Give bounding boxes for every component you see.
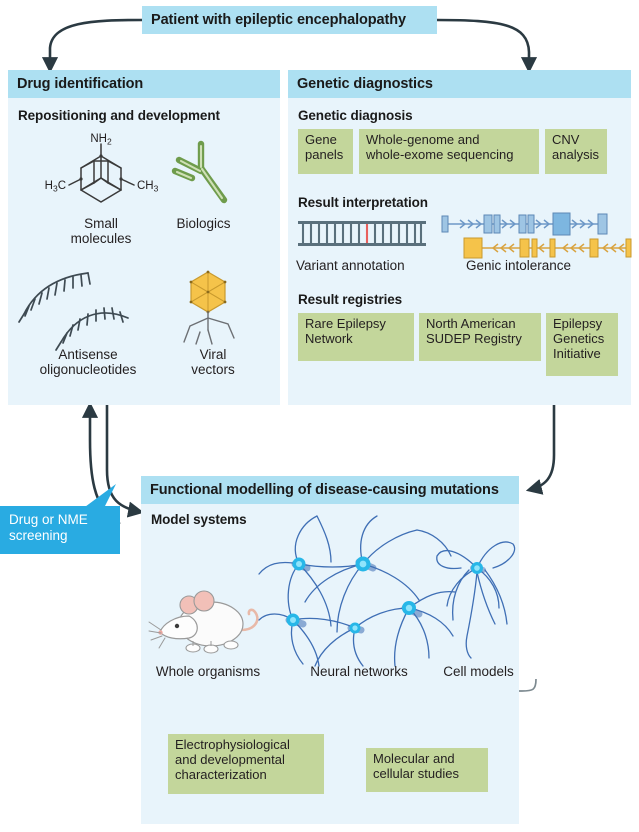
small-molecule-structure-icon: NH2 H3C CH3: [36, 132, 166, 224]
epilepsy-genetics-initiative-box[interactable]: Epilepsy Genetics Initiative: [546, 313, 618, 376]
whole-organisms-caption: Whole organisms: [143, 664, 273, 679]
drug-nme-screening-callout[interactable]: Drug or NME screening: [0, 506, 120, 554]
single-neuron-icon: [437, 528, 517, 658]
genic-intolerance-caption: Genic intolerance: [466, 258, 626, 273]
genic-intolerance-icon: [440, 212, 630, 260]
result-interpretation-section-title: Result interpretation: [298, 195, 428, 210]
rare-epilepsy-network-box[interactable]: Rare Epilepsy Network: [298, 313, 414, 361]
biologics-caption: Biologics: [156, 216, 251, 231]
result-registries-section-title: Result registries: [298, 292, 402, 307]
arrow-genetics-to-functional: [529, 400, 554, 490]
gene-panels-box[interactable]: Gene panels: [298, 129, 353, 174]
genetic-diagnosis-section-title: Genetic diagnosis: [298, 108, 413, 123]
wgs-wes-box[interactable]: Whole-genome and whole-exome sequencing: [359, 129, 539, 174]
viral-vector-icon: [172, 270, 248, 352]
svg-text:NH2: NH2: [90, 133, 112, 147]
patient-banner-label: Patient with epileptic encephalopathy: [142, 12, 406, 28]
viral-vectors-caption: Viral vectors: [168, 347, 258, 377]
functional-modelling-panel: Functional modelling of disease-causing …: [141, 476, 519, 824]
cell-models-caption: Cell models: [431, 664, 526, 679]
small-molecules-caption: Small molecules: [41, 216, 161, 246]
arrow-banner-to-drug: [50, 20, 142, 70]
svg-text:CH3: CH3: [137, 180, 159, 194]
electrophysiological-characterization-box[interactable]: Electrophysiological and developmental c…: [168, 734, 324, 794]
drug-identification-header-label: Drug identification: [8, 76, 143, 92]
antisense-caption: Antisense oligonucleotides: [18, 347, 158, 377]
drug-identification-header[interactable]: Drug identification: [8, 70, 280, 98]
molecular-cellular-studies-box[interactable]: Molecular and cellular studies: [366, 748, 488, 792]
arrow-banner-to-genetics: [437, 20, 529, 70]
genetic-diagnostics-panel: Genetic diagnostics Genetic diagnosis Ge…: [288, 70, 631, 405]
patient-banner[interactable]: Patient with epileptic encephalopathy: [142, 6, 437, 34]
drug-identification-panel: Drug identification Repositioning and de…: [8, 70, 280, 405]
genetic-diagnostics-header[interactable]: Genetic diagnostics: [288, 70, 631, 98]
functional-modelling-header[interactable]: Functional modelling of disease-causing …: [141, 476, 519, 504]
mouse-icon: [149, 588, 267, 662]
repositioning-section-title: Repositioning and development: [18, 108, 220, 123]
cnv-analysis-box[interactable]: CNV analysis: [545, 129, 607, 174]
variant-annotation-caption: Variant annotation: [296, 258, 441, 273]
model-systems-section-title: Model systems: [151, 512, 247, 527]
antisense-oligo-icon: [16, 270, 166, 352]
variant-annotation-icon: [298, 218, 426, 252]
svg-text:H3C: H3C: [45, 180, 66, 194]
functional-modelling-header-label: Functional modelling of disease-causing …: [141, 482, 499, 498]
genetic-diagnostics-header-label: Genetic diagnostics: [288, 76, 433, 92]
arrow-drug-to-functional: [107, 404, 141, 512]
neural-network-icon: [259, 516, 459, 666]
antibody-icon: [170, 138, 232, 212]
neural-networks-caption: Neural networks: [269, 664, 449, 679]
north-american-sudep-registry-box[interactable]: North American SUDEP Registry: [419, 313, 541, 361]
